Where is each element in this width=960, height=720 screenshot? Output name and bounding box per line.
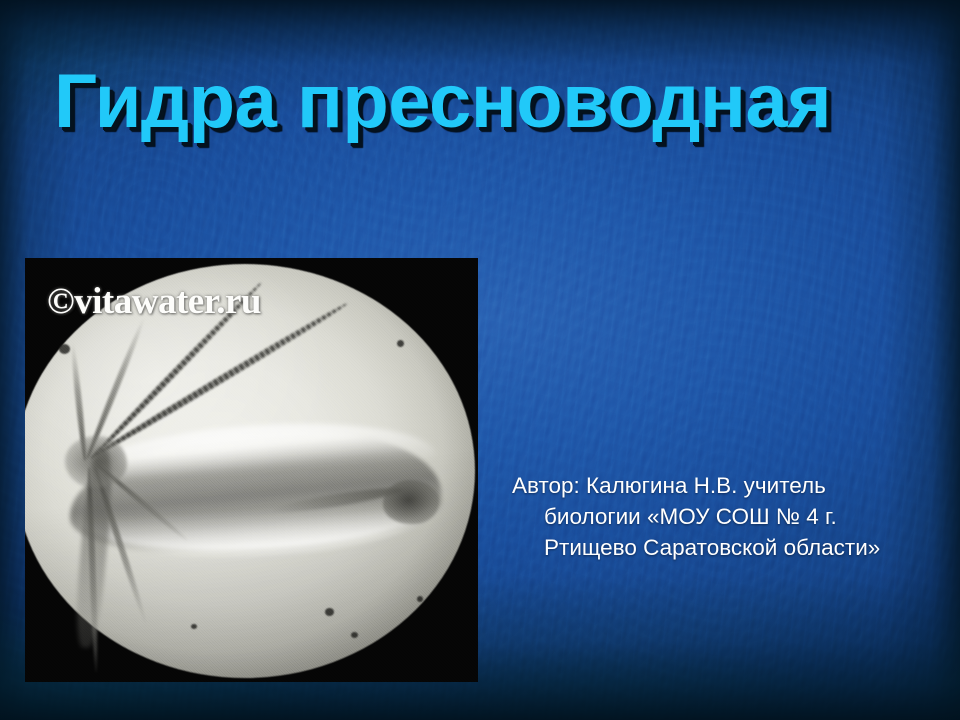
presentation-slide: Гидра пресноводная	[0, 0, 960, 720]
photo-content: ©vitawater.ru	[25, 258, 478, 682]
hydra-microscope-photo: ©vitawater.ru	[25, 258, 478, 682]
slide-title: Гидра пресноводная	[54, 64, 924, 140]
watermark-text: ©vitawater.ru	[47, 280, 261, 323]
author-credit-text: Автор: Калюгина Н.В. учитель биологии «М…	[512, 470, 928, 563]
